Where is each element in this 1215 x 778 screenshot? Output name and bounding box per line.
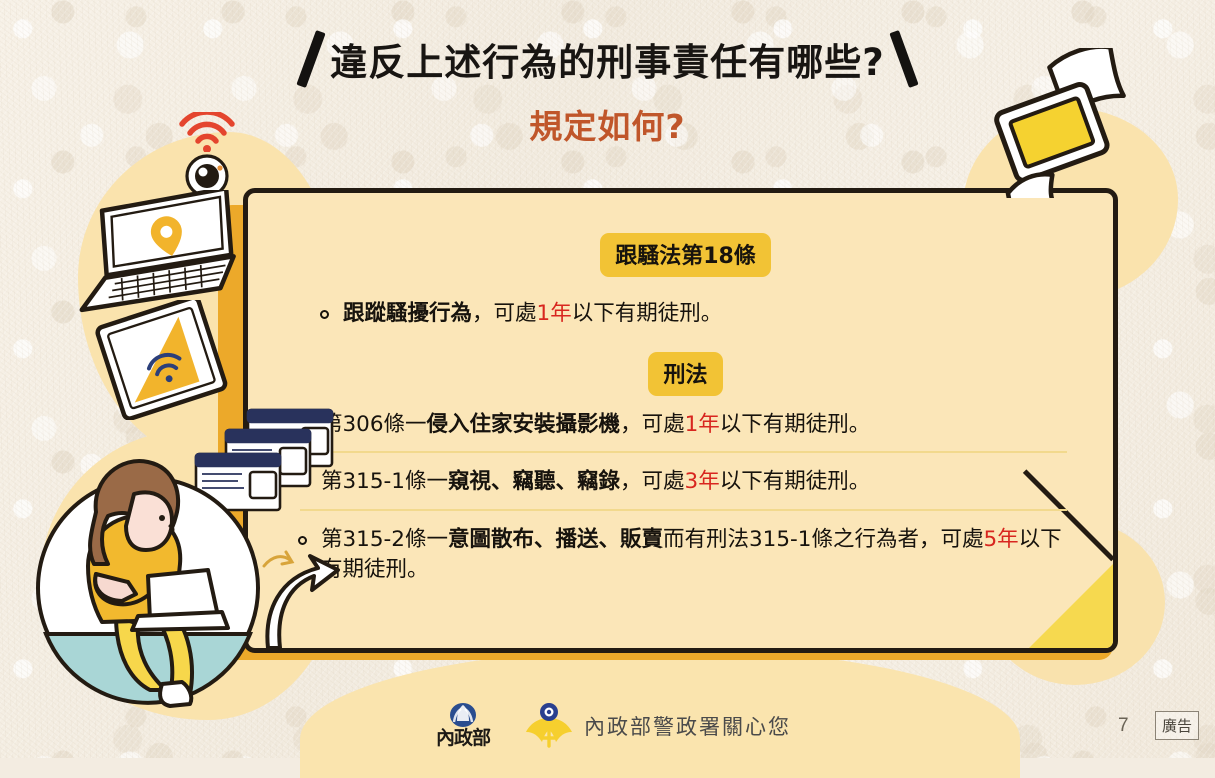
bullet-bold-part: 意圖散布、播送、販賣	[448, 527, 663, 552]
bullet-bold-part: 跟蹤騷擾行為	[343, 301, 472, 326]
bullet-highlight-part: 3年	[685, 469, 720, 494]
bullet-bold-part: 侵入住家安裝攝影機	[427, 412, 621, 437]
bullet-dot-icon	[320, 310, 329, 319]
slash-right-decor	[889, 30, 918, 88]
page-number: 7	[1118, 694, 1129, 758]
ministry-of-interior-logo: 內政部	[424, 702, 502, 750]
tablet-icon	[95, 300, 230, 420]
page-subtitle: 規定如何?	[0, 100, 1215, 148]
bullet-dot-icon	[298, 536, 307, 545]
badge-criminal-law-wrap: 刑法	[298, 352, 1073, 396]
bullet-tail-part: 以下有期徒刑。	[572, 301, 723, 326]
footer-logos: 內政部	[424, 694, 574, 758]
badge-criminal-law: 刑法	[648, 352, 722, 396]
page-header: 違反上述行為的刑事責任有哪些? 規定如何?	[0, 30, 1215, 148]
bullet-article-315-1: 第315-1條一窺視、竊聽、竊錄，可處3年以下有期徒刑。	[298, 467, 1073, 498]
bullet-stalking-law: 跟蹤騷擾行為，可處1年以下有期徒刑。	[298, 299, 1073, 330]
badge-stalking-law: 跟騷法第18條	[600, 233, 771, 277]
footer-caption: 內政部警政署關心您	[584, 694, 791, 758]
bullet-highlight-part: 5年	[983, 527, 1018, 552]
page-footer: 內政部 內政部警政署關心您 7 廣告	[0, 694, 1215, 758]
bullet-mid-part: ，可處	[472, 301, 537, 326]
page-title: 違反上述行為的刑事責任有哪些?	[330, 32, 884, 86]
bullet-article-306: 第306條一侵入住家安裝攝影機，可處1年以下有期徒刑。	[298, 410, 1073, 441]
advertisement-label: 廣告	[1155, 711, 1199, 740]
bullet-bold-part: 窺視、竊聽、竊錄	[448, 469, 620, 494]
content-card: 跟騷法第18條 跟蹤騷擾行為，可處1年以下有期徒刑。 刑法 第306條一侵入住家…	[243, 188, 1118, 653]
badge-stalking-law-wrap: 跟騷法第18條	[298, 233, 1073, 277]
bullet-article-315-2-text: 第315-2條一意圖散布、播送、販賣而有刑法315-1條之行為者，可處5年以下有…	[321, 525, 1073, 586]
bullet-article-315-2: 第315-2條一意圖散布、播送、販賣而有刑法315-1條之行為者，可處5年以下有…	[298, 525, 1073, 586]
bullet-highlight-part: 1年	[685, 412, 720, 437]
bullet-highlight-part: 1年	[537, 301, 572, 326]
bullet-article-315-1-text: 第315-1條一窺視、竊聽、竊錄，可處3年以下有期徒刑。	[321, 467, 1073, 498]
person-illustration	[30, 438, 280, 718]
bullet-mid-part: ，可處	[620, 412, 685, 437]
title-row: 違反上述行為的刑事責任有哪些?	[0, 30, 1215, 88]
ministry-logo-text: 內政部	[424, 723, 502, 750]
slash-left-decor	[297, 30, 326, 88]
card-content: 跟騷法第18條 跟蹤騷擾行為，可處1年以下有期徒刑。 刑法 第306條一侵入住家…	[248, 193, 1113, 648]
bullet-prefix-part: 第315-1條一	[321, 469, 448, 494]
bullet-article-306-text: 第306條一侵入住家安裝攝影機，可處1年以下有期徒刑。	[321, 410, 1073, 441]
bullet-divider	[300, 451, 1067, 453]
bullet-prefix-part: 第306條一	[321, 412, 427, 437]
bullet-divider	[300, 509, 1067, 511]
bullet-stalking-law-text: 跟蹤騷擾行為，可處1年以下有期徒刑。	[343, 299, 1073, 330]
bullet-mid-part: ，可處	[620, 469, 685, 494]
bullet-tail-part: 以下有期徒刑。	[720, 412, 871, 437]
police-emblem-icon	[524, 702, 574, 750]
police-badge-logo	[524, 702, 574, 750]
curved-arrow-icon	[262, 548, 342, 658]
bullet-mid-part: 而有刑法315-1條之行為者，可處	[663, 527, 983, 552]
bullet-tail-part: 以下有期徒刑。	[720, 469, 871, 494]
